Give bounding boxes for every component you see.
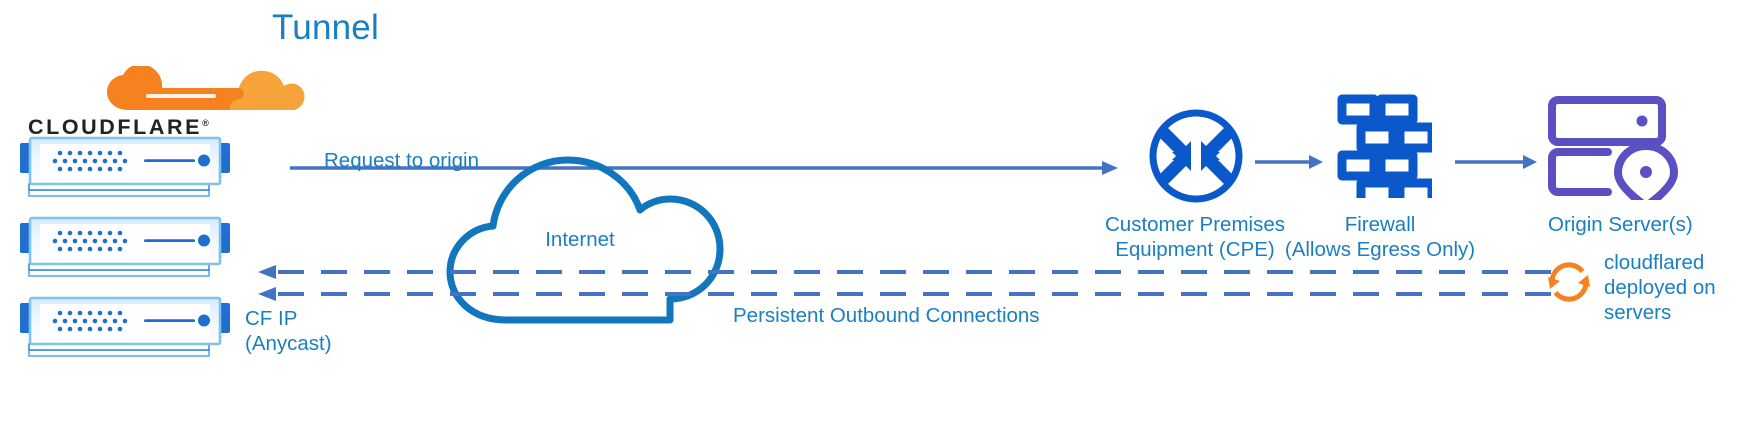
cloudflare-cloud-icon: [106, 66, 306, 118]
tunnel-architecture-diagram: Tunnel CLOUDFLARE®: [0, 0, 1754, 422]
persistent-outbound-connections-label: Persistent Outbound Connections: [733, 303, 1040, 328]
internet-label: Internet: [470, 228, 690, 252]
firewall-label-line2: (Allows Egress Only): [1225, 237, 1535, 262]
cf-edge-server-rack-1: [18, 136, 232, 198]
firewall-label-line1: Firewall: [1255, 212, 1505, 237]
page-title: Tunnel: [272, 8, 379, 48]
customer-premises-equipment-icon: [1142, 108, 1250, 204]
origin-server-label: Origin Server(s): [1548, 212, 1693, 237]
server-rack-icon: [18, 216, 232, 278]
cloudflare-logo: CLOUDFLARE®: [28, 70, 228, 140]
cf-ip-label-line1: CF IP: [245, 306, 297, 331]
cf-edge-server-rack-2: [18, 216, 232, 278]
firewall-icon: [1328, 90, 1432, 198]
cloudflared-label-line3: servers: [1604, 300, 1671, 325]
cloudflared-label-line1: cloudflared: [1604, 250, 1704, 275]
persistent-outbound-connections-lines: [258, 262, 1560, 308]
server-rack-icon: [18, 296, 232, 358]
server-rack-icon: [18, 136, 232, 198]
firewall-to-origin-arrow: [1455, 155, 1537, 169]
cf-ip-label-line2: (Anycast): [245, 331, 332, 356]
origin-server-icon: [1546, 94, 1682, 200]
cpe-to-firewall-arrow: [1255, 155, 1323, 169]
cf-edge-server-rack-3: [18, 296, 232, 358]
cloudflared-label-line2: deployed on: [1604, 275, 1716, 300]
cloudflare-trademark: ®: [202, 118, 211, 128]
